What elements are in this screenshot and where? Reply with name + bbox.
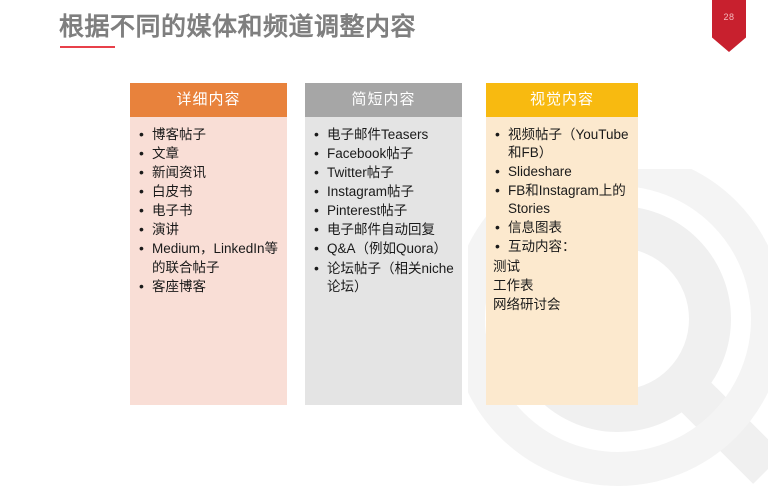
- list-item: Slideshare: [492, 163, 631, 181]
- page-title: 根据不同的媒体和频道调整内容: [59, 14, 416, 42]
- list-item: Medium，LinkedIn等的联合帖子: [136, 240, 280, 276]
- title-accent-underline: [60, 46, 115, 48]
- item-list-visual-content: 视频帖子（YouTube和FB）SlideshareFB和Instagram上的…: [492, 126, 631, 314]
- list-item: 信息图表: [492, 219, 631, 237]
- list-item: 新闻资讯: [136, 164, 280, 182]
- content-column-visual-content: 视觉内容视频帖子（YouTube和FB）SlideshareFB和Instagr…: [486, 83, 638, 405]
- item-list-short-content: 电子邮件TeasersFacebook帖子Twitter帖子Instagram帖…: [311, 126, 455, 296]
- list-item: Q&A（例如Quora）: [311, 240, 455, 258]
- content-column-detailed-content: 详细内容博客帖子文章新闻资讯白皮书电子书演讲Medium，LinkedIn等的联…: [130, 83, 287, 405]
- list-item: 电子邮件Teasers: [311, 126, 455, 144]
- list-item: 工作表: [492, 277, 631, 295]
- list-item: 电子书: [136, 202, 280, 220]
- column-header-visual-content: 视觉内容: [486, 83, 638, 117]
- list-item: Twitter帖子: [311, 164, 455, 182]
- list-item: Pinterest帖子: [311, 202, 455, 220]
- list-item: 电子邮件自动回复: [311, 221, 455, 239]
- slide-number-label: 28: [712, 12, 746, 22]
- list-item: 演讲: [136, 221, 280, 239]
- list-item: Facebook帖子: [311, 145, 455, 163]
- list-item: FB和Instagram上的Stories: [492, 182, 631, 218]
- list-item: 论坛帖子（相关niche论坛）: [311, 260, 455, 296]
- list-item: 白皮书: [136, 183, 280, 201]
- list-item: 网络研讨会: [492, 296, 631, 314]
- column-body-detailed-content: 博客帖子文章新闻资讯白皮书电子书演讲Medium，LinkedIn等的联合帖子客…: [130, 117, 287, 405]
- content-columns: 详细内容博客帖子文章新闻资讯白皮书电子书演讲Medium，LinkedIn等的联…: [130, 83, 640, 405]
- column-body-visual-content: 视频帖子（YouTube和FB）SlideshareFB和Instagram上的…: [486, 117, 638, 405]
- column-header-detailed-content: 详细内容: [130, 83, 287, 117]
- column-body-short-content: 电子邮件TeasersFacebook帖子Twitter帖子Instagram帖…: [305, 117, 462, 405]
- page-title-wrap: 根据不同的媒体和频道调整内容: [59, 14, 416, 42]
- list-item: 博客帖子: [136, 126, 280, 144]
- list-item: Instagram帖子: [311, 183, 455, 201]
- item-list-detailed-content: 博客帖子文章新闻资讯白皮书电子书演讲Medium，LinkedIn等的联合帖子客…: [136, 126, 280, 296]
- list-item: 文章: [136, 145, 280, 163]
- content-column-short-content: 简短内容电子邮件TeasersFacebook帖子Twitter帖子Instag…: [305, 83, 462, 405]
- slide-number-badge: 28: [712, 0, 746, 52]
- ribbon-shape: [712, 0, 746, 52]
- list-item: 客座博客: [136, 278, 280, 296]
- list-item: 视频帖子（YouTube和FB）: [492, 126, 631, 162]
- list-item: 互动内容：: [492, 238, 631, 256]
- column-header-short-content: 简短内容: [305, 83, 462, 117]
- list-item: 测试: [492, 258, 631, 276]
